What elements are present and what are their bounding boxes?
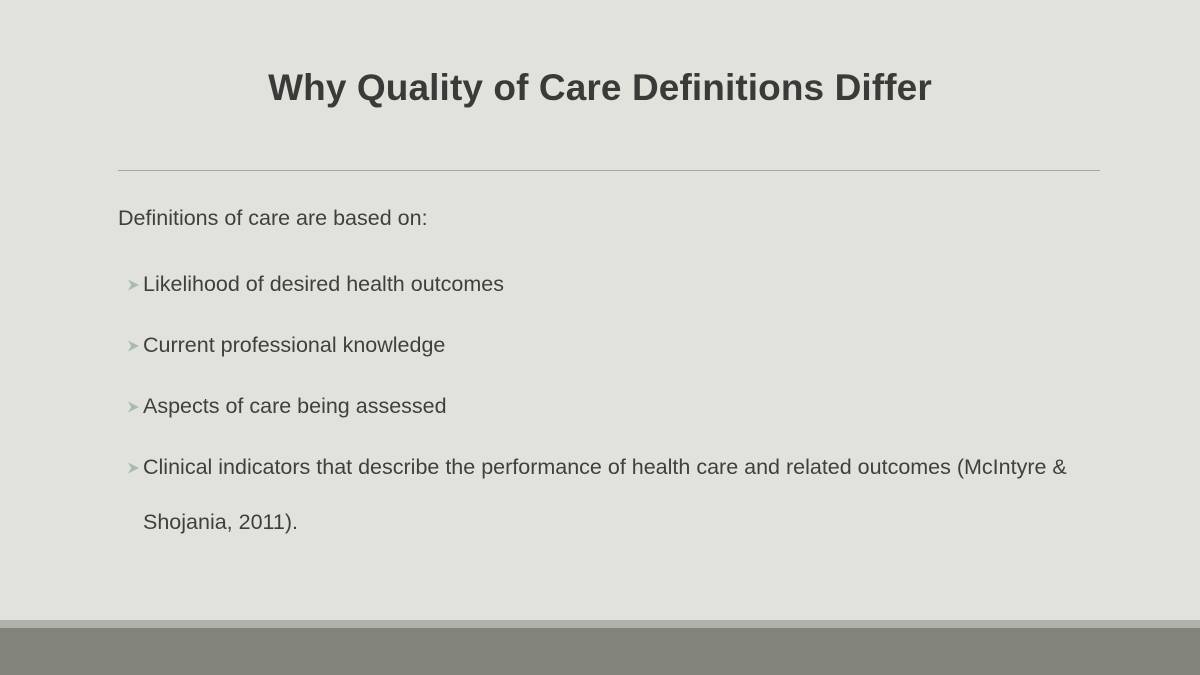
bullet-list: Likelihood of desired health outcomes Cu… — [118, 257, 1118, 550]
page-title: Why Quality of Care Definitions Differ — [0, 68, 1200, 109]
list-item-label: Likelihood of desired health outcomes — [143, 272, 504, 296]
slide-body: Definitions of care are based on: Likeli… — [118, 205, 1118, 550]
list-item-label: Clinical indicators that describe the pe… — [143, 455, 1067, 534]
intro-text: Definitions of care are based on: — [118, 205, 1118, 232]
list-item: Clinical indicators that describe the pe… — [118, 440, 1118, 550]
list-item-label: Aspects of care being assessed — [143, 394, 447, 418]
title-divider — [118, 170, 1100, 171]
list-item-label: Current professional knowledge — [143, 333, 445, 357]
list-item: Current professional knowledge — [118, 318, 1118, 373]
footer-accent-strip — [0, 620, 1200, 628]
slide-canvas: Why Quality of Care Definitions Differ D… — [0, 0, 1200, 675]
list-item: Aspects of care being assessed — [118, 379, 1118, 434]
footer-band — [0, 628, 1200, 675]
list-item: Likelihood of desired health outcomes — [118, 257, 1118, 312]
